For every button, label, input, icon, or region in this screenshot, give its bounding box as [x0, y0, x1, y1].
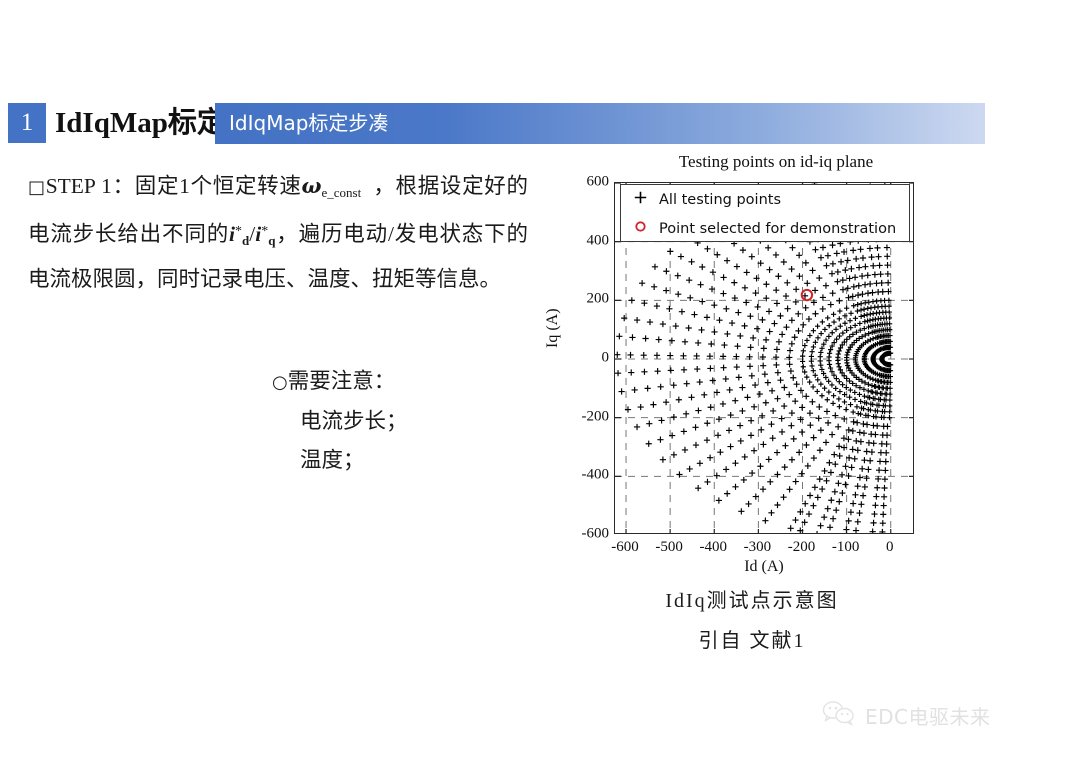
selected-point-layer [802, 290, 812, 300]
step-bullet-square: □ [28, 177, 46, 198]
wechat-icon [822, 700, 856, 731]
x-axis-label: Id (A) [614, 558, 914, 576]
x-tick-label: -100 [832, 539, 860, 556]
notes-heading: 需要注意： [288, 369, 396, 393]
y-tick-label: -200 [582, 408, 610, 425]
y-tick-label: -400 [582, 467, 610, 484]
subtitle-banner: IdIqMap标定步凑 [215, 103, 985, 144]
body-line1-b: ，根据设定 [373, 174, 484, 198]
x-tick-label: -300 [744, 539, 772, 556]
omega-symbol: ω [302, 173, 322, 198]
body-line4: 矩等信息。 [394, 267, 502, 291]
x-tick-label: -200 [788, 539, 816, 556]
y-tick-label: 0 [602, 350, 610, 367]
y-tick-label: 600 [587, 174, 610, 191]
legend-label-all-points: All testing points [659, 192, 781, 208]
figure-caption: IdIq测试点示意图 [552, 584, 952, 613]
note-item: 温度； [272, 441, 408, 480]
body-paragraph: □STEP 1：固定1个恒定转速ωe_const ，根据设定好的电流步长给出不同… [28, 166, 528, 299]
circle-bullet-icon: ○ [272, 372, 288, 393]
omega-subscript: e_const [322, 185, 362, 200]
section-number-badge: 1 [8, 103, 46, 143]
id-star: * [235, 224, 242, 239]
x-tick-label: 0 [886, 539, 894, 556]
step-label: STEP 1： [46, 174, 135, 198]
chart-title: Testing points on id-iq plane [600, 152, 952, 172]
y-tick-label: 400 [587, 232, 610, 249]
figure-container: Testing points on id-iq plane -600-400-2… [552, 152, 952, 652]
notes-block: ○需要注意： 电流步长； 温度； [272, 362, 408, 480]
body-text: □STEP 1：固定1个恒定转速ωe_const ，根据设定好的电流步长给出不同… [28, 166, 528, 299]
figure-source: 引自 文献1 [552, 624, 952, 653]
plus-marker-icon [621, 191, 659, 208]
body-line1-a: 固定1个恒定转速 [135, 174, 302, 198]
notes-heading-line: ○需要注意： [272, 362, 408, 402]
body-line2-b: ，遍历电动/发电 [275, 222, 439, 246]
footer-watermark: EDC电驱未来 [822, 700, 991, 731]
x-tick-label: -600 [611, 539, 639, 556]
subtitle-label: IdIqMap标定步凑 [229, 103, 388, 144]
footer-brand-label: EDC电驱未来 [865, 701, 991, 730]
legend-row-selected-point: Point selected for demonstration [621, 214, 909, 243]
legend-row-all-points: All testing points [621, 185, 909, 214]
y-axis-label: Iq (A) [544, 308, 562, 348]
slide-header: 1 IdIqMap标定 IdIqMap标定步凑 [0, 103, 1080, 145]
note-item: 电流步长； [272, 402, 408, 441]
x-tick-label: -500 [655, 539, 683, 556]
y-tick-label: 200 [587, 291, 610, 308]
y-tick-label: -600 [582, 526, 610, 543]
circle-marker-icon [621, 220, 659, 237]
legend-label-selected-point: Point selected for demonstration [659, 221, 896, 237]
x-tick-label: -400 [700, 539, 728, 556]
page-title: IdIqMap标定 [55, 101, 226, 145]
chart-legend: All testing points Point selected for de… [620, 184, 910, 242]
